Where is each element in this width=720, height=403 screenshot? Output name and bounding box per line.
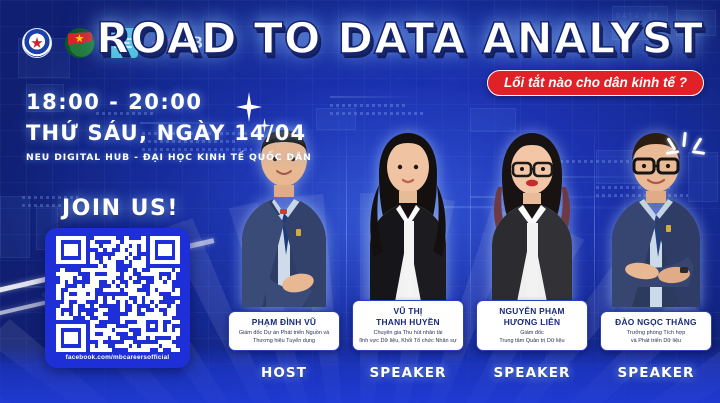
- speaker-name-card-1: PHẠM ĐÌNH VŨ Giám đốc Dự án Phát triển N…: [228, 311, 340, 351]
- neu-university-seal-icon: [22, 28, 52, 58]
- poster-title: ROAD TO DATA ANALYST: [96, 18, 704, 61]
- join-us-heading: JOIN US!: [62, 196, 179, 221]
- speaker-role-1-line1: Giám đốc Dự án Phát triển Nguồn và: [233, 330, 335, 337]
- speaker-tag-2: SPEAKER: [369, 365, 446, 381]
- title-block: ROAD TO DATA ANALYST Lối tắt nào cho dân…: [96, 18, 704, 96]
- speaker-tag-1: HOST: [261, 365, 307, 381]
- poster-subtitle-pill: Lối tắt nào cho dân kinh tế ?: [487, 70, 704, 96]
- speaker-role-2-line2: lĩnh vực Dữ liệu, Khối Tổ chức Nhân sự: [357, 338, 459, 345]
- speaker-name-1: PHẠM ĐÌNH VŨ: [233, 317, 335, 328]
- speaker-role-4-line2: và Phát triển Dữ liệu: [605, 338, 707, 345]
- speaker-role-4-line1: Trưởng phòng Tích hợp: [605, 330, 707, 337]
- speaker-role-1-line2: Thương hiệu Tuyển dụng: [233, 338, 335, 345]
- speaker-name-2-line2: THANH HUYỀN: [357, 317, 459, 328]
- speaker-role-3-line1: Giám đốc: [481, 330, 583, 337]
- event-venue: NEU DIGITAL HUB - ĐẠI HỌC KINH TẾ QUỐC D…: [26, 152, 312, 163]
- speaker-tag-3: SPEAKER: [493, 365, 570, 381]
- speaker-name-2-line1: VŨ THỊ: [357, 306, 459, 317]
- event-info-block: 18:00 - 20:00 THỨ SÁU, NGÀY 14/04 NEU DI…: [26, 90, 312, 163]
- speaker-tag-4: SPEAKER: [617, 365, 694, 381]
- qr-code-card[interactable]: facebook.com/mbcareersofficial: [45, 228, 190, 368]
- speaker-name-card-2: VŨ THỊ THANH HUYỀN Chuyên gia Thu hút nh…: [352, 300, 464, 351]
- speaker-name-card-3: NGUYỄN PHẠM HƯƠNG LIÊN Giám đốc Trung tâ…: [476, 300, 588, 351]
- qr-code-image[interactable]: [56, 236, 180, 352]
- speaker-role-3-line2: Trung tâm Quản trị Dữ liệu: [481, 338, 583, 345]
- speaker-name-4: ĐÀO NGỌC THẮNG: [605, 317, 707, 328]
- speaker-name-3-line2: HƯƠNG LIÊN: [481, 317, 583, 328]
- event-date: THỨ SÁU, NGÀY 14/04: [26, 121, 312, 145]
- speaker-name-card-4: ĐÀO NGỌC THẮNG Trưởng phòng Tích hợp và …: [600, 311, 712, 351]
- speaker-name-3-line1: NGUYỄN PHẠM: [481, 306, 583, 317]
- burst-accent-icon: [666, 132, 706, 166]
- speaker-photo-3: [470, 125, 594, 307]
- event-time: 18:00 - 20:00: [26, 90, 312, 114]
- event-poster: DATA-03 DATA-03 MB ROAD TO DATA ANALYST …: [0, 0, 720, 403]
- speaker-photo-2: [346, 125, 470, 307]
- youth-union-flag-icon: [65, 28, 95, 58]
- facebook-url-label: facebook.com/mbcareersofficial: [66, 354, 170, 361]
